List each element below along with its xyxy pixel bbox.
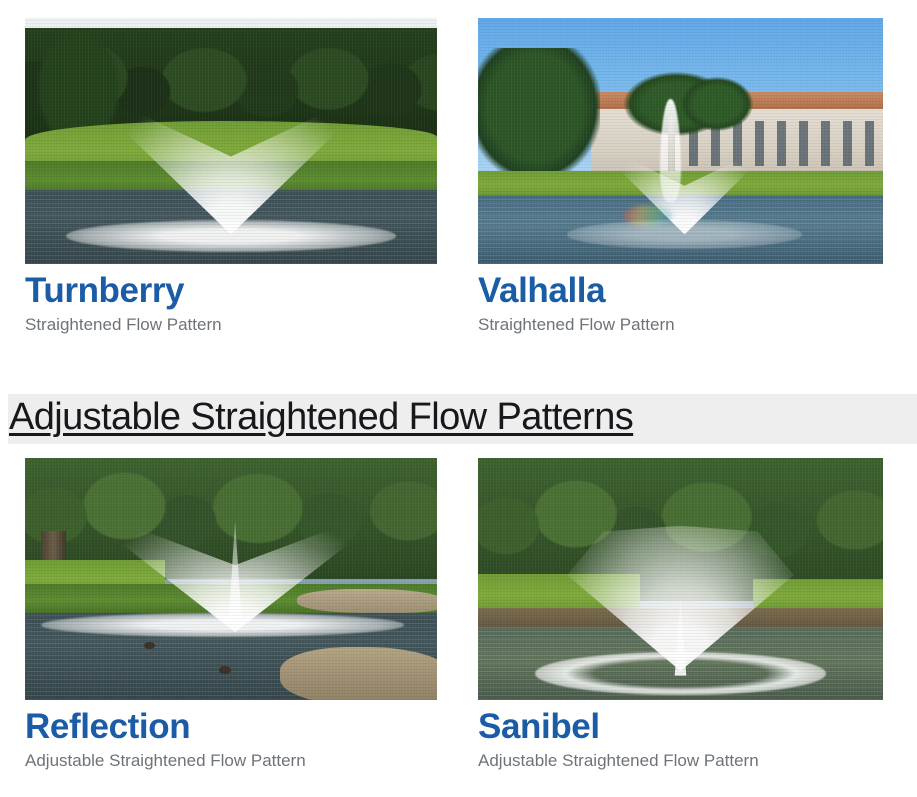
valhalla-fountain-photo[interactable] <box>478 18 883 264</box>
product-name: Turnberry <box>25 273 437 310</box>
fountain-base-spray <box>66 220 396 252</box>
product-pattern: Straightened Flow Pattern <box>25 315 437 335</box>
fountain-base-spray <box>567 220 802 250</box>
foreground-tree <box>33 23 124 141</box>
section-heading-adjustable: Adjustable Straightened Flow Patterns <box>9 396 633 439</box>
rock-bank <box>297 589 437 613</box>
fountain-base-spray <box>41 613 404 637</box>
product-name: Sanibel <box>478 709 883 746</box>
product-name: Valhalla <box>478 273 883 310</box>
sandy-shore <box>280 647 437 700</box>
turnberry-fountain-photo[interactable] <box>25 18 437 264</box>
palm-crown <box>681 77 754 131</box>
reflection-fountain-photo[interactable] <box>25 458 437 700</box>
product-name: Reflection <box>25 709 437 746</box>
product-card-sanibel[interactable]: Sanibel Adjustable Straightened Flow Pat… <box>478 458 883 771</box>
product-pattern: Adjustable Straightened Flow Pattern <box>25 751 437 771</box>
product-card-turnberry[interactable]: Turnberry Straightened Flow Pattern <box>25 18 437 335</box>
left-tree-mass <box>478 48 600 181</box>
duck <box>219 666 231 674</box>
product-pattern: Straightened Flow Pattern <box>478 315 883 335</box>
sanibel-fountain-photo[interactable] <box>478 458 883 700</box>
product-card-reflection[interactable]: Reflection Adjustable Straightened Flow … <box>25 458 437 771</box>
fountain-catalog-page: Turnberry Straightened Flow Pattern <box>0 0 917 797</box>
product-card-valhalla[interactable]: Valhalla Straightened Flow Pattern <box>478 18 883 335</box>
product-pattern: Adjustable Straightened Flow Pattern <box>478 751 883 771</box>
fountain-base-ring <box>535 652 827 696</box>
